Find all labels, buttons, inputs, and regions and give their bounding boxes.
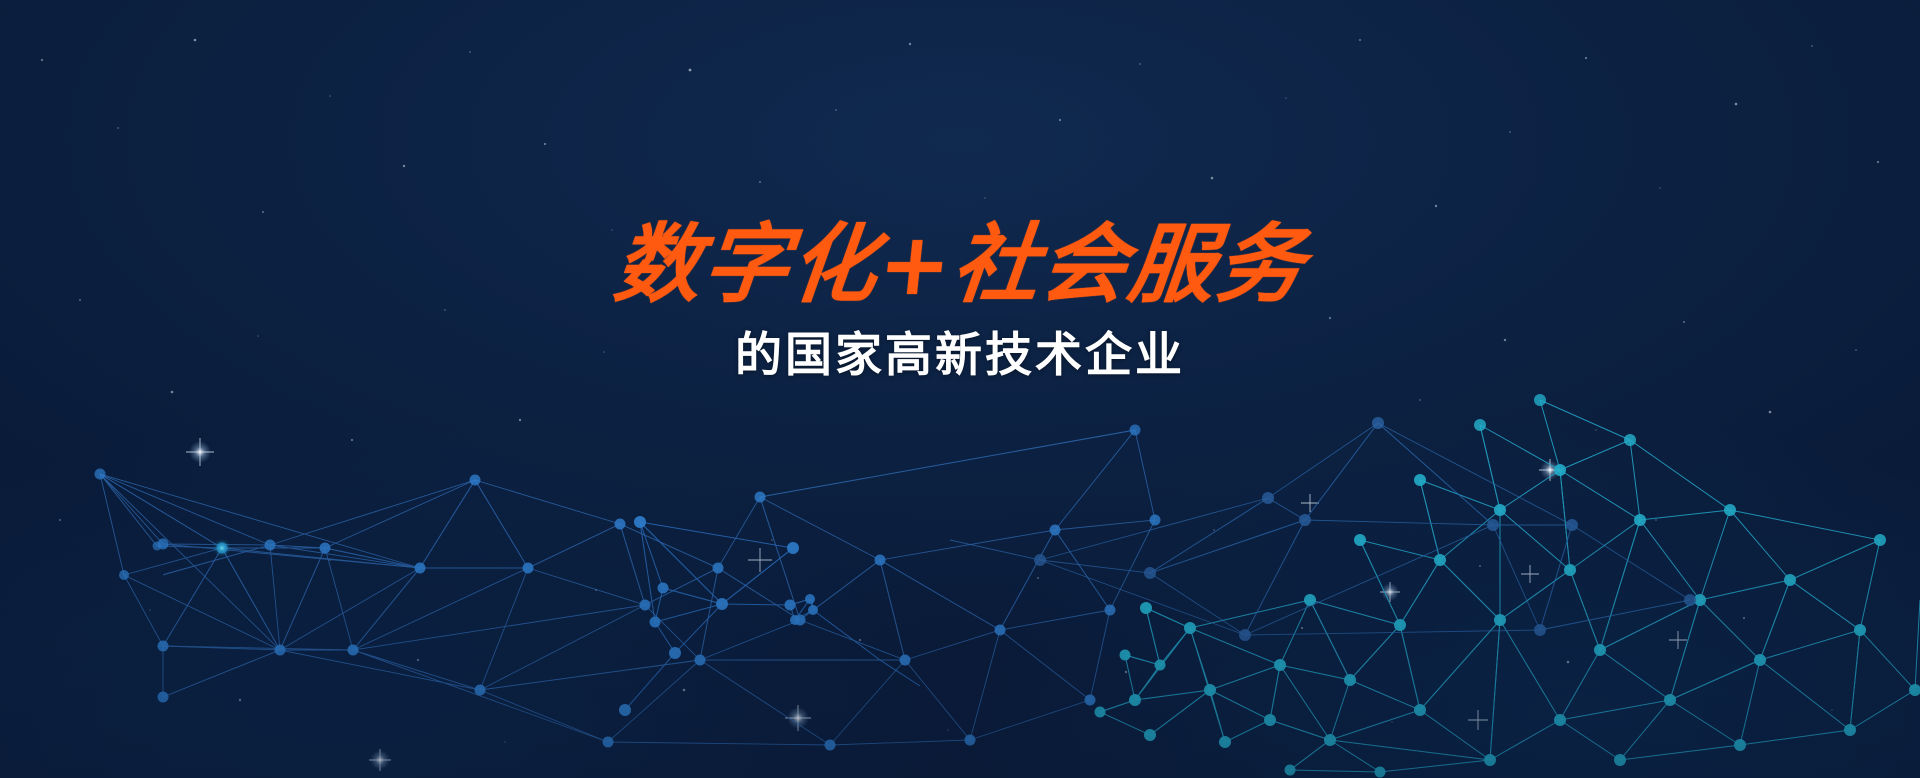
page-subtitle: 的国家高新技术企业 bbox=[0, 332, 1920, 379]
mesh-node bbox=[1034, 417, 1696, 641]
page-title: 数字化+社会服务 bbox=[0, 222, 1920, 308]
hero-text-block: 数字化+社会服务 的国家高新技术企业 bbox=[0, 222, 1920, 379]
network-mesh-upper-right bbox=[0, 0, 1920, 778]
hero-banner: 数字化+社会服务 的国家高新技术企业 bbox=[0, 0, 1920, 778]
